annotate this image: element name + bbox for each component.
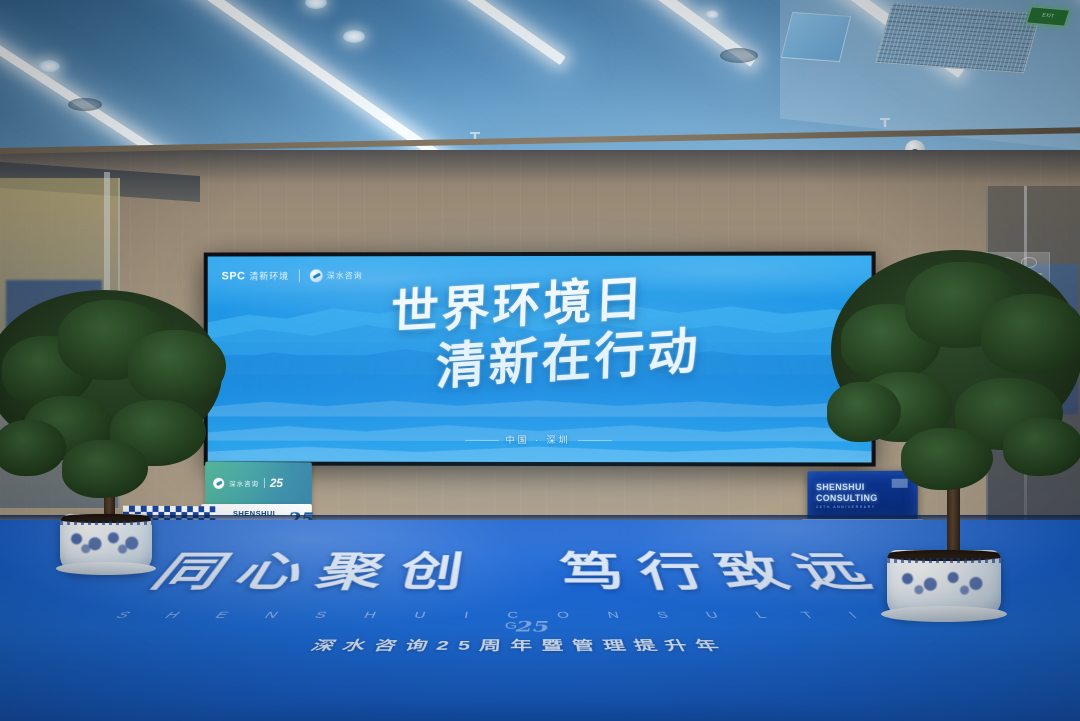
led-video-wall[interactable]: SPC 清新环境 深水咨询 世界环境日 清新在行动 中国 · 深圳: [204, 251, 876, 466]
ceiling-access-panel: [781, 12, 851, 62]
pot-soil-rim: [60, 514, 152, 523]
recessed-downlight-icon: [38, 60, 60, 73]
event-hall-photo: EXIT: [0, 0, 1080, 721]
recessed-downlight-icon: [705, 10, 719, 19]
ceiling-speaker-icon: [720, 48, 758, 63]
logo-divider: [299, 269, 300, 282]
podium-left-anniversary-number: 25: [270, 476, 283, 490]
screen-logo-bar: SPC 清新环境 深水咨询: [222, 269, 363, 282]
spc-logo-chinese: 清新环境: [249, 269, 289, 282]
plant-foliage: [1003, 418, 1080, 476]
screen-subtitle: 中国 · 深圳: [506, 435, 571, 445]
exit-sign-label: EXIT: [1027, 7, 1069, 25]
plant-foliage: [981, 294, 1080, 374]
pot-soil-rim: [887, 550, 1001, 561]
screen-title-block: 世界环境日 清新在行动: [208, 282, 872, 385]
ceiling-speaker-icon: [68, 98, 102, 111]
podium-left-divider: [264, 478, 265, 488]
shenshui-logo-chinese: 深水咨询: [327, 270, 363, 281]
pot-saucer-right: [881, 606, 1007, 622]
subtitle-rule-right: [578, 440, 612, 441]
shenshui-logo: 深水咨询: [310, 269, 363, 282]
hvac-return-grille: [875, 3, 1041, 74]
shenshui-logo-badge-icon: [310, 269, 323, 282]
plant-foliage: [62, 440, 148, 498]
screen-subtitle-row: 中国 · 深圳: [208, 433, 872, 447]
led-screen-content: SPC 清新环境 深水咨询 世界环境日 清新在行动 中国 · 深圳: [208, 255, 872, 462]
subtitle-rule-left: [465, 440, 499, 441]
potted-plant-right: [835, 250, 1080, 620]
pot-saucer-left: [56, 562, 156, 575]
podium-left-chinese: 深水咨询: [229, 478, 259, 488]
exit-sign: EXIT: [1026, 6, 1070, 26]
potted-plant-left: [0, 270, 230, 570]
spc-logo: SPC 清新环境: [222, 269, 290, 282]
plant-foliage: [0, 420, 66, 476]
recessed-downlight-icon: [343, 30, 365, 43]
plant-foliage: [901, 428, 993, 490]
